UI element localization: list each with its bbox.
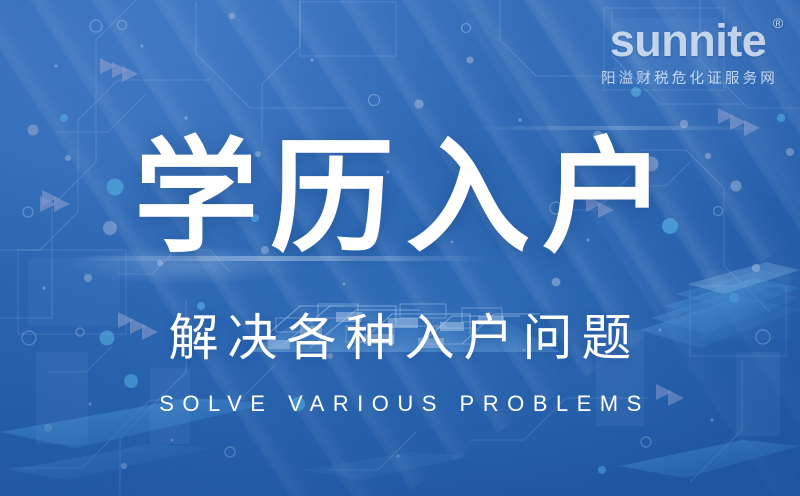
brand-logo[interactable]: sunnite ® 阳溢财税危化证服务网 [598, 18, 778, 87]
logo-subtitle: 阳溢财税危化证服务网 [598, 72, 778, 87]
page-title: 学历入户 [0, 136, 800, 260]
english-tagline: SOLVE VARIOUS PROBLEMS [0, 393, 800, 415]
logo-wordmark: sunnite ® [610, 18, 767, 63]
logo-wordmark-text: sunnite [610, 15, 767, 66]
registered-trademark-icon: ® [773, 16, 783, 30]
page-subtitle: 解决各种入户问题 [0, 313, 800, 363]
promo-banner: sunnite ® 阳溢财税危化证服务网 学历入户 解决各种入户问题 SOLVE… [0, 0, 800, 496]
